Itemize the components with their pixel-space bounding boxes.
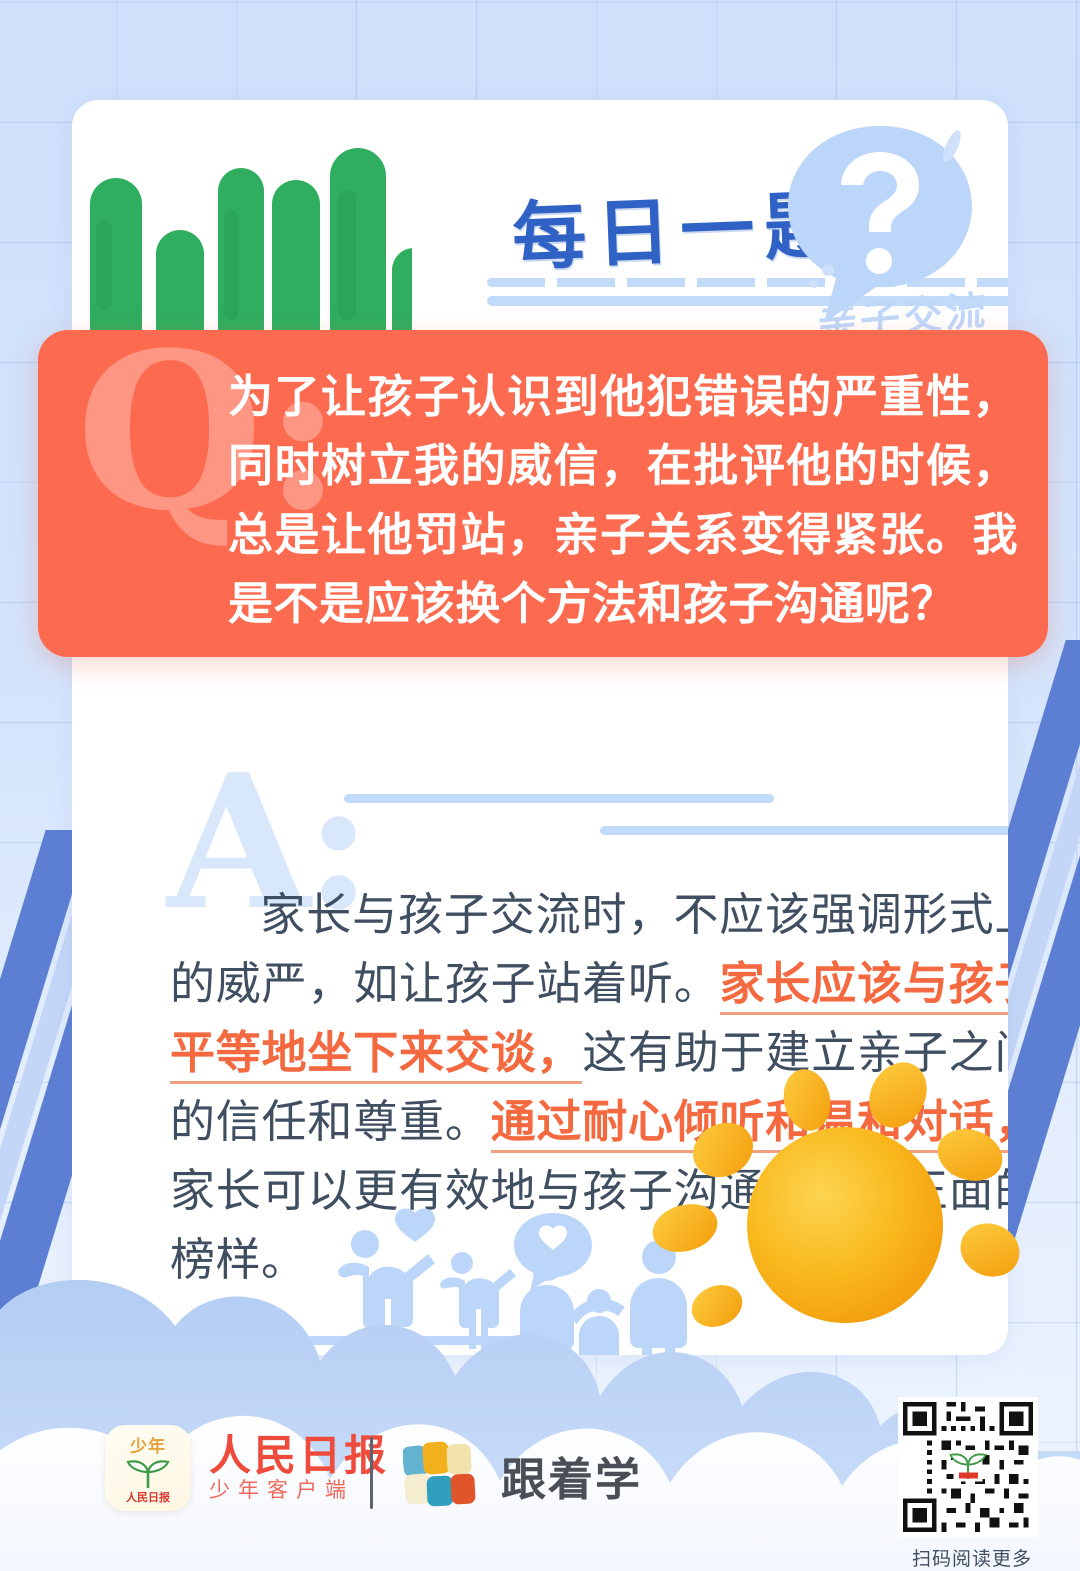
brand-subtitle: 少年客户端 <box>209 1480 389 1501</box>
qr-code[interactable] <box>898 1397 1038 1537</box>
answer-rule-1 <box>344 794 774 803</box>
brand-name: 人民日报 <box>209 1435 389 1477</box>
app-icon-bottom-label: 人民日报 <box>126 1489 170 1505</box>
brand-logo[interactable]: 少年 人民日报 人民日报 少年客户端 <box>105 1425 389 1511</box>
app-icon: 少年 人民日报 <box>105 1425 191 1511</box>
partner-name: 跟着学 <box>501 1443 642 1508</box>
partner-logo[interactable]: 跟着学 <box>403 1440 642 1510</box>
brand-text-block: 人民日报 少年客户端 <box>209 1435 389 1501</box>
question-panel: Q: 为了让孩子认识到他犯错误的严重性，同时树立我的威信，在批评他的时候，总是让… <box>38 330 1048 657</box>
app-icon-top-label: 少年 <box>130 1432 166 1457</box>
qr-caption: 扫码阅读更多 <box>898 1544 1046 1571</box>
poster-root: 每日一题 亲子交流 A: 家长与孩子交流时，不应该强调形式上的威严，如让孩子站着… <box>0 0 1080 1571</box>
blocks-icon <box>403 1440 485 1510</box>
footer-divider <box>370 1437 373 1509</box>
qr-block[interactable]: 扫码阅读更多 <box>898 1397 1046 1571</box>
sprout-icon <box>125 1458 171 1488</box>
answer-rule-2 <box>600 826 1008 835</box>
grass-decoration <box>72 100 412 360</box>
question-text: 为了让孩子认识到他犯错误的严重性，同时树立我的威信，在批评他的时候，总是让他罚站… <box>228 362 1018 638</box>
